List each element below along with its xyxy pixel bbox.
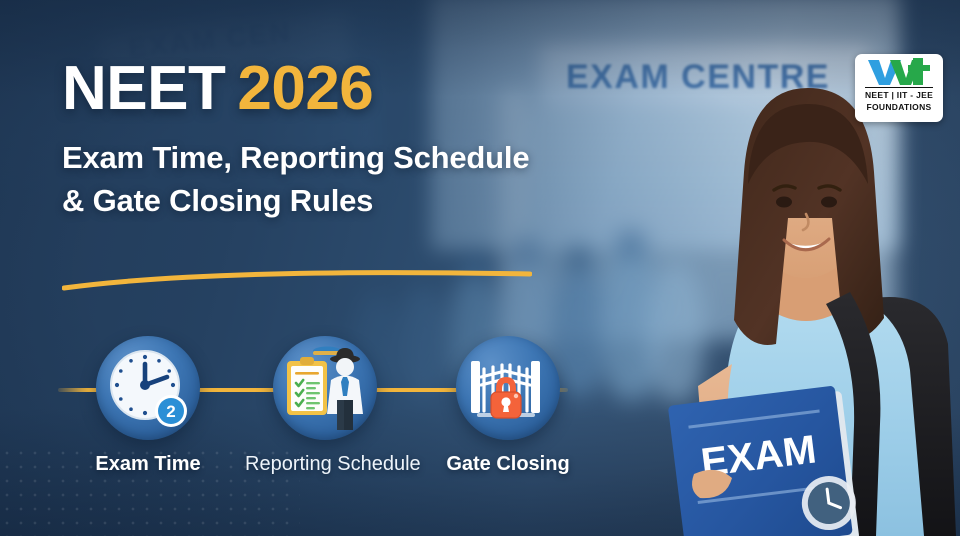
step-label-exam-time: Exam Time <box>68 453 228 476</box>
logo-tagline-1: NEET | IIT - JEE <box>865 87 933 100</box>
eye-left <box>776 197 792 208</box>
step-gate-closing[interactable]: Gate Closing <box>428 336 588 476</box>
headline-block: NEET2026 Exam Time, Reporting Schedule &… <box>62 58 529 222</box>
neet-2026-promo-banner: EXAM CEN EXAM CENTRE <box>0 0 960 536</box>
clock-icon: 2 <box>105 345 191 431</box>
steps-row: 2 Exam Time <box>0 336 620 506</box>
clipboard-invigilator-icon <box>279 342 371 434</box>
brand-logo[interactable]: NEET | IIT - JEE FOUNDATIONS <box>855 54 943 122</box>
exam-book: EXAM <box>668 385 861 536</box>
svg-text:2: 2 <box>166 402 175 421</box>
subtitle-line-1: Exam Time, Reporting Schedule <box>62 138 529 179</box>
step-icon-circle <box>273 336 377 440</box>
vvt-logo-icon <box>866 58 932 86</box>
invigilator-figure <box>327 348 363 430</box>
title-year: 2026 <box>237 54 373 123</box>
logo-tagline-2: FOUNDATIONS <box>867 102 932 112</box>
subtitle-line-2: & Gate Closing Rules <box>62 181 529 222</box>
eye-right <box>821 197 837 208</box>
step-icon-circle: 2 <box>96 336 200 440</box>
page-title: NEET2026 <box>62 58 529 120</box>
step-icon-circle <box>456 336 560 440</box>
step-label-reporting-schedule: Reporting Schedule <box>245 453 405 476</box>
title-neet: NEET <box>62 54 225 123</box>
student-photo: EXAM <box>636 66 960 536</box>
gold-swoosh-divider <box>62 270 532 292</box>
locked-gate-icon <box>465 345 551 431</box>
step-exam-time[interactable]: 2 Exam Time <box>68 336 228 476</box>
clock-badge: 2 <box>155 395 187 427</box>
step-label-gate-closing: Gate Closing <box>428 453 588 476</box>
step-reporting-schedule[interactable]: Reporting Schedule <box>245 336 405 476</box>
